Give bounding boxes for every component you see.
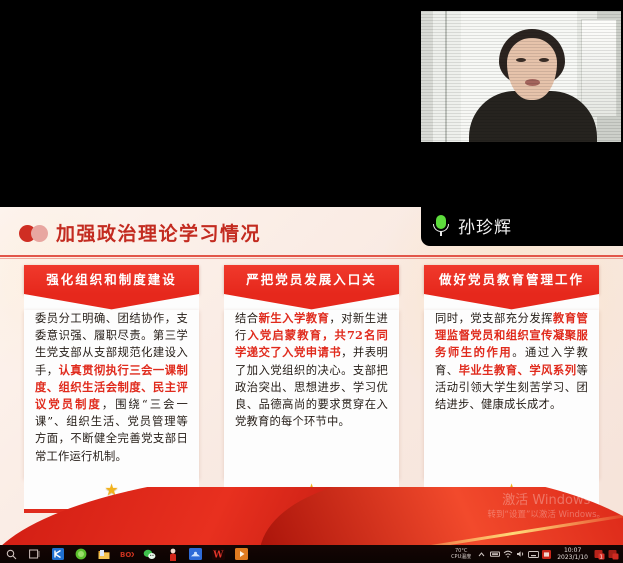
slide-card-notch (24, 294, 199, 310)
slide-card-body: 委员分工明确、团结协作，支委意识强、履职尽责。第三学生党支部从支部规范化建设入手… (24, 310, 199, 479)
webcam-scanlines (421, 11, 621, 142)
slide-card-header: 严把党员发展入口关 (224, 265, 399, 294)
slide-card-header: 做好党员教育管理工作 (424, 265, 599, 294)
slide-card-text: 结合新生入学教育，对新生进行入党启蒙教育，共72名同学递交了入党申请书，并表明了… (235, 310, 388, 430)
wifi-icon[interactable] (501, 545, 514, 563)
taskbar-clock[interactable]: 10:07 2023/1/10 (557, 547, 588, 561)
green-browser-icon[interactable] (69, 545, 92, 563)
bullet-circle-light-icon (31, 225, 48, 242)
keyboard-icon[interactable] (527, 545, 540, 563)
wechat-icon[interactable] (138, 545, 161, 563)
slide-card-notch (424, 294, 599, 310)
slide-title-divider-thin (0, 258, 623, 259)
slide-card-notch (224, 294, 399, 310)
slide-card-text: 同时，党支部充分发挥教育管理监督党员和组织宣传凝聚服务师生的作用。通过入学教育、… (435, 310, 588, 413)
slide-card-body: 结合新生入学教育，对新生进行入党启蒙教育，共72名同学递交了入党申请书，并表明了… (224, 310, 399, 479)
slide-card: 严把党员发展入口关 结合新生入学教育，对新生进行入党启蒙教育，共72名同学递交了… (224, 265, 399, 513)
cpu-temp-label: CPU温度 (451, 554, 471, 560)
shared-slide[interactable]: 加强政治理论学习情况 强化组织和制度建设 委员分工明确、团结协作，支委意识强、履… (0, 207, 623, 545)
file-explorer-icon[interactable] (92, 545, 115, 563)
slide-card-body: 同时，党支部充分发挥教育管理监督党员和组织宣传凝聚服务师生的作用。通过入学教育、… (424, 310, 599, 479)
action-center-icon[interactable] (606, 545, 620, 563)
slide-card-header-text: 严把党员发展入口关 (224, 265, 399, 294)
slide-card: 强化组织和制度建设 委员分工明确、团结协作，支委意识强、履职尽责。第三学生党支部… (24, 265, 199, 513)
meeting-app-icon[interactable] (184, 545, 207, 563)
cpu-temperature-indicator[interactable]: 70°C CPU温度 (451, 548, 471, 560)
windows-taskbar[interactable]: BOX (0, 545, 623, 563)
slide-ribbon-decoration (0, 487, 623, 545)
red-app-icon[interactable] (161, 545, 184, 563)
wps-icon[interactable]: W (207, 545, 230, 563)
media-player-icon[interactable] (230, 545, 253, 563)
svg-text:W: W (212, 551, 224, 561)
taskbar-app-list: BOX (0, 545, 253, 563)
blue-app-icon[interactable] (46, 545, 69, 563)
system-tray: 70°C CPU温度 10:07 2023/ (451, 545, 623, 563)
slide-card-header-text: 做好党员教育管理工作 (424, 265, 599, 294)
microphone-icon (433, 215, 449, 236)
network-icon[interactable] (488, 545, 501, 563)
slide-title-divider (0, 255, 623, 257)
slide-card-text: 委员分工明确、团结协作，支委意识强、履职尽责。第三学生党支部从支部规范化建设入手… (35, 310, 188, 465)
screen: 加强政治理论学习情况 强化组织和制度建设 委员分工明确、团结协作，支委意识强、履… (0, 0, 623, 563)
meeting-video-stage[interactable]: 加强政治理论学习情况 强化组织和制度建设 委员分工明确、团结协作，支委意识强、履… (0, 0, 623, 545)
chevron-up-icon[interactable] (475, 545, 488, 563)
webcam-video[interactable] (421, 11, 621, 142)
slide-title: 加强政治理论学习情况 (56, 219, 261, 246)
active-speaker-label: 孙珍辉 (421, 205, 623, 246)
ribbon-layer-right (258, 487, 623, 545)
svg-text:1: 1 (599, 554, 602, 560)
clock-date: 2023/1/10 (557, 554, 588, 561)
slide-card-row: 强化组织和制度建设 委员分工明确、团结协作，支委意识强、履职尽责。第三学生党支部… (0, 265, 623, 515)
svg-text:BOX: BOX (120, 551, 134, 559)
notification-icon[interactable]: 1 (592, 545, 606, 563)
box-app-icon[interactable]: BOX (115, 545, 138, 563)
slide-card-header: 强化组织和制度建设 (24, 265, 199, 294)
volume-icon[interactable] (514, 545, 527, 563)
red-tray-icon[interactable] (540, 545, 553, 563)
clock-time: 10:07 (557, 547, 588, 554)
task-view-icon[interactable] (23, 545, 46, 563)
search-icon[interactable] (0, 545, 23, 563)
slide-card-header-text: 强化组织和制度建设 (24, 265, 199, 294)
speaker-name: 孙珍辉 (458, 213, 512, 238)
slide-card: 做好党员教育管理工作 同时，党支部充分发挥教育管理监督党员和组织宣传凝聚服务师生… (424, 265, 599, 513)
